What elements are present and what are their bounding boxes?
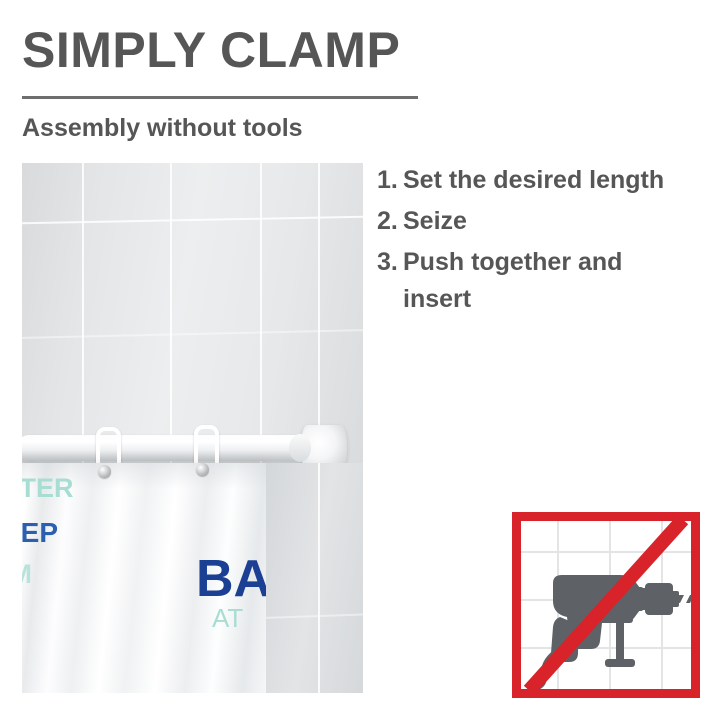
step-text: Push together and insert bbox=[403, 244, 697, 318]
list-item: 3. Push together and insert bbox=[377, 244, 697, 318]
curtain-word: BA bbox=[196, 549, 271, 609]
list-item: 2. Seize bbox=[377, 203, 697, 240]
curtain-word: IM bbox=[22, 559, 32, 590]
curtain-header-band bbox=[22, 463, 266, 489]
product-photo: ATER EEP IM BA AT WARM KOUD POO bbox=[22, 163, 363, 693]
curtain-grommet bbox=[98, 465, 111, 478]
curtain-grommet bbox=[196, 463, 209, 476]
instruction-list: 1. Set the desired length 2. Seize 3. Pu… bbox=[377, 162, 697, 322]
wall-right-strip bbox=[266, 463, 363, 693]
step-number: 1. bbox=[377, 162, 403, 199]
page-title: SIMPLY CLAMP bbox=[22, 22, 400, 78]
shower-curtain: ATER EEP IM BA AT WARM KOUD POO bbox=[22, 463, 266, 693]
step-number: 3. bbox=[377, 244, 403, 281]
poster-root: SIMPLY CLAMP Assembly without tools 1. S… bbox=[0, 0, 720, 720]
step-number: 2. bbox=[377, 203, 403, 240]
no-drill-icon bbox=[512, 512, 700, 698]
step-text: Set the desired length bbox=[403, 162, 697, 199]
grout-line-v bbox=[318, 463, 320, 693]
curtain-word: AT bbox=[212, 603, 243, 634]
step-text: Seize bbox=[403, 203, 697, 240]
list-item: 1. Set the desired length bbox=[377, 162, 697, 199]
shower-curtain-rod bbox=[22, 435, 312, 461]
curtain-word: EEP bbox=[22, 517, 58, 549]
title-divider bbox=[22, 96, 418, 99]
page-subtitle: Assembly without tools bbox=[22, 112, 303, 144]
